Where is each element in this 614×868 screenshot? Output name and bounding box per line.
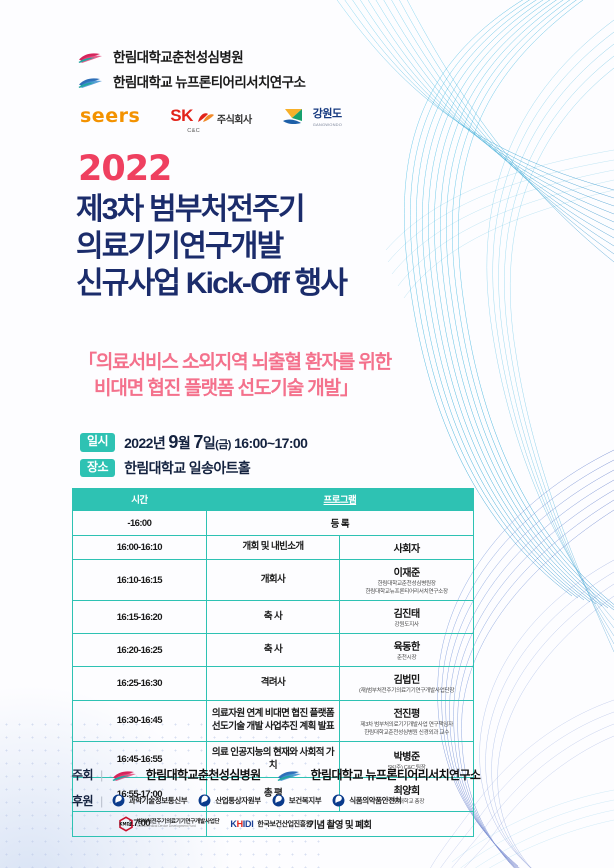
page-title: 제3차 범부처전주기 의료기기연구개발 신규사업 Kick-Off 행사 (76, 192, 346, 303)
speaker-affiliation: 한림대학교춘천성심병원장한림대학교뉴프론티어리서치연구소장 (343, 580, 470, 596)
gangwondo-emblem-icon (282, 106, 308, 126)
subtitle-line-2: 비대면 협진 플랫폼 선도기술 개발」 (78, 376, 391, 402)
korea-emblem-icon (112, 794, 125, 807)
date-weekday: (금) (215, 439, 231, 451)
organization-name: 한림대학교 뉴프론티어리서치연구소 (113, 71, 305, 91)
footer-host-name: 한림대학교 뉴프론티어리서치연구소 (311, 766, 481, 783)
support-divider: | (100, 794, 103, 808)
cell-program-wide: 등 록 (206, 511, 473, 536)
cell-program: 의료자원 연계 비대면 협진 플랫폼선도기술 개발 사업추진 계획 발표 (206, 700, 340, 741)
supporter-name: 보건복지부 (289, 795, 322, 806)
cell-speaker: 김진태강원도지사 (340, 601, 474, 634)
cell-time: 16:20-16:25 (73, 634, 207, 667)
date-tag-badge: 일시 (80, 433, 115, 451)
sk-butterfly-icon (195, 111, 215, 126)
date-day-unit: 일 (203, 435, 215, 451)
cell-speaker: 육동한춘천시장 (340, 634, 474, 667)
kmdf-hexagon-icon: KMDF (118, 816, 134, 832)
sk-logo: SK 주식회사 C&C (170, 106, 251, 126)
place-value: 한림대학교 일송아트홀 (124, 458, 250, 478)
host-organizations: 한림대학교춘천성심병원 한림대학교 뉴프론티어리서치연구소 (78, 46, 305, 96)
date-month-unit: 월 (178, 435, 190, 451)
cell-time: 16:00-16:10 (73, 536, 207, 560)
date-month-number: 9 (168, 432, 177, 452)
title-line-1: 제3차 범부처전주기 (76, 192, 346, 229)
project-subtitle: 「의료서비스 소외지역 뇌출혈 환자를 위한 비대면 협진 플랫폼 선도기술 개… (78, 350, 391, 401)
sk-cc-label: C&C (187, 128, 200, 134)
speaker-name: 김진태 (343, 605, 470, 620)
gangwondo-sub: GANGWONDO (313, 122, 342, 127)
table-header-row: 시간 프로그램 (73, 489, 474, 511)
hallym-wing-icon (78, 74, 106, 89)
gangwondo-name: 강원도 (313, 108, 342, 120)
cell-program: 축 사 (206, 601, 340, 634)
supporter-name: 과학기술정보통신부 (129, 795, 188, 806)
date-day-number: 7 (193, 432, 202, 452)
support-label: 후원 (72, 792, 93, 809)
hallym-wing-icon (277, 767, 305, 782)
cell-program: 축 사 (206, 634, 340, 667)
footer-host-name: 한림대학교춘천성심병원 (146, 766, 261, 783)
supporter-list: 과학기술정보통신부산업통상자원부보건복지부식품의약품안전처 (112, 794, 413, 807)
date-value: 2022년 9월 7일(금) 16:00~17:00 (124, 432, 307, 453)
column-header-program-text: 프로그램 (324, 495, 357, 506)
seers-logo: seers (80, 105, 140, 127)
speaker-name: 사회자 (343, 540, 470, 555)
speaker-name: 전진평 (343, 705, 470, 720)
sponsor-logo-row: seers SK 주식회사 C&C 강원도 GANGWONDO (80, 104, 342, 127)
khidi-h-accent: H (237, 819, 243, 829)
speaker-name: 육동한 (343, 638, 470, 653)
footer-host-item: 한림대학교춘천성심병원 (112, 766, 261, 783)
speaker-affiliation: (재)범부처전주기의료기기연구개발사업단장 (343, 687, 470, 695)
column-header-program: 프로그램 (206, 489, 473, 511)
khidi-logo: KHIDI 한국보건산업진흥원 (230, 819, 311, 829)
supporter-name: 식품의약품안전처 (349, 795, 401, 806)
table-row: 16:10-16:15개회사이재준한림대학교춘천성심병원장한림대학교뉴프론티어리… (73, 560, 474, 601)
cell-time: -16:00 (73, 511, 207, 536)
event-place-row: 장소 한림대학교 일송아트홀 (80, 458, 307, 478)
gangwondo-logo: 강원도 GANGWONDO (282, 104, 342, 127)
host-row: 주회 | 한림대학교춘천성심병원 한림대학교 뉴프론티어리서치연구소 (72, 766, 496, 783)
organization-row: 한림대학교춘천성심병원 (78, 46, 305, 66)
support-row: 후원 | 과학기술정보통신부산업통상자원부보건복지부식품의약품안전처 (72, 792, 496, 809)
event-info: 일시 2022년 9월 7일(금) 16:00~17:00 장소 한림대학교 일… (80, 432, 307, 483)
supporter-name: 산업통상자원부 (215, 795, 261, 806)
khidi-mark: KHIDI (230, 819, 253, 829)
supporter-item: 산업통상자원부 (198, 794, 261, 807)
table-row: -16:00등 록 (73, 511, 474, 536)
footer-host-item: 한림대학교 뉴프론티어리서치연구소 (277, 766, 481, 783)
title-line-2: 의료기기연구개발 (76, 229, 346, 266)
table-row: 16:00-16:10개회 및 내빈소개사회자 (73, 536, 474, 560)
speaker-name: 이재준 (343, 564, 470, 579)
khidi-name: 한국보건산업진흥원 (257, 819, 311, 829)
kmdf-text-block: 범부처전주기의료기기연구개발사업단 Korea Medical Device D… (137, 819, 219, 829)
speaker-affiliation: 춘천시장 (343, 654, 470, 662)
sk-mark-label: SK (170, 106, 193, 126)
cell-program: 개회 및 내빈소개 (206, 536, 340, 560)
table-row: 16:25-16:30격려사김법민(재)범부처전주기의료기기연구개발사업단장 (73, 667, 474, 700)
date-time-range: 16:00~17:00 (234, 435, 307, 451)
host-divider: | (100, 768, 103, 782)
gangwondo-text-block: 강원도 GANGWONDO (313, 104, 342, 127)
speaker-name: 김법민 (343, 671, 470, 686)
sk-korean-label: 주식회사 (217, 111, 252, 126)
korea-emblem-icon (198, 794, 211, 807)
cell-speaker: 이재준한림대학교춘천성심병원장한림대학교뉴프론티어리서치연구소장 (340, 560, 474, 601)
cell-program: 개회사 (206, 560, 340, 601)
poster-root: 한림대학교춘천성심병원 한림대학교 뉴프론티어리서치연구소 seers SK 주… (0, 0, 614, 868)
kmdf-sub: Korea Medical Device Development Fund (137, 825, 219, 829)
cell-program: 격려사 (206, 667, 340, 700)
cell-time: 16:25-16:30 (73, 667, 207, 700)
subtitle-line-1: 「의료서비스 소외지역 뇌출혈 환자를 위한 (78, 350, 391, 376)
cell-time: 16:10-16:15 (73, 560, 207, 601)
organization-name: 한림대학교춘천성심병원 (113, 46, 243, 66)
speaker-affiliation: 제3차 범부처의료기기개발사업 연구책임자한림대학교춘천성심병원 신경외과 교수 (343, 721, 470, 737)
event-date-row: 일시 2022년 9월 7일(금) 16:00~17:00 (80, 432, 307, 453)
hallym-wing-icon (78, 49, 106, 64)
table-row: 16:15-16:20축 사김진태강원도지사 (73, 601, 474, 634)
speaker-affiliation: 강원도지사 (343, 621, 470, 629)
speaker-name: 박병준 (343, 748, 470, 763)
date-year: 2022년 (124, 435, 165, 451)
cell-speaker: 사회자 (340, 536, 474, 560)
agency-row: KMDF 범부처전주기의료기기연구개발사업단 Korea Medical Dev… (72, 816, 496, 832)
korea-emblem-icon (332, 794, 345, 807)
table-row: 16:20-16:25축 사육동한춘천시장 (73, 634, 474, 667)
table-row: 16:30-16:45의료자원 연계 비대면 협진 플랫폼선도기술 개발 사업추… (73, 700, 474, 741)
supporter-item: 보건복지부 (272, 794, 322, 807)
hallym-wing-icon (112, 767, 140, 782)
title-line-3: 신규사업 Kick-Off 행사 (76, 266, 346, 303)
supporter-item: 과학기술정보통신부 (112, 794, 188, 807)
kmdf-logo: KMDF 범부처전주기의료기기연구개발사업단 Korea Medical Dev… (118, 816, 219, 832)
column-header-time: 시간 (73, 489, 207, 511)
footer: 주회 | 한림대학교춘천성심병원 한림대학교 뉴프론티어리서치연구소 (72, 766, 496, 832)
korea-emblem-icon (272, 794, 285, 807)
cell-speaker: 김법민(재)범부처전주기의료기기연구개발사업단장 (340, 667, 474, 700)
cell-speaker: 전진평제3차 범부처의료기기개발사업 연구책임자한림대학교춘천성심병원 신경외과… (340, 700, 474, 741)
cell-time: 16:30-16:45 (73, 700, 207, 741)
event-year: 2022 (78, 152, 171, 187)
organization-row: 한림대학교 뉴프론티어리서치연구소 (78, 71, 305, 91)
svg-text:KMDF: KMDF (119, 822, 132, 827)
supporter-item: 식품의약품안전처 (332, 794, 401, 807)
program-table-head: 시간 프로그램 (73, 489, 474, 511)
cell-time: 16:15-16:20 (73, 601, 207, 634)
place-tag-badge: 장소 (80, 459, 115, 477)
host-label: 주회 (72, 766, 93, 783)
